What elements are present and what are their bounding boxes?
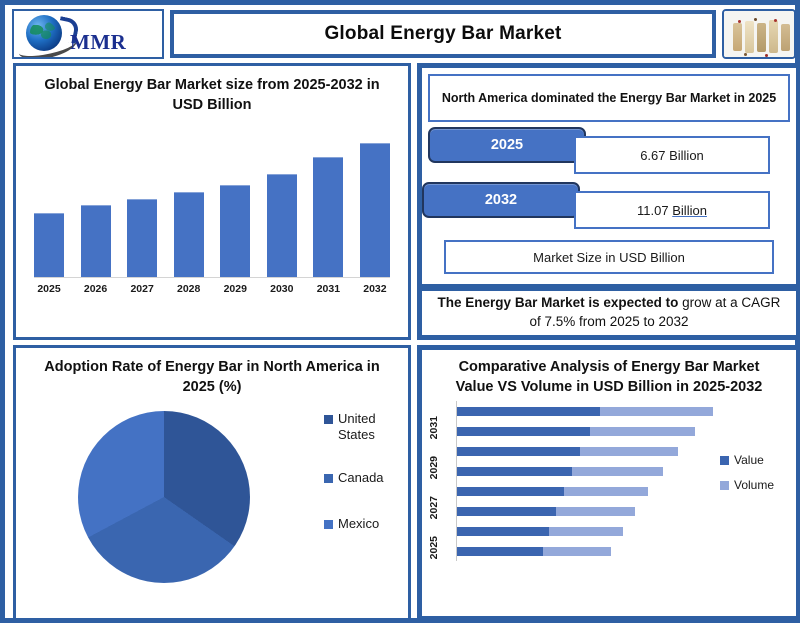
bar-segment-volume bbox=[564, 487, 649, 496]
axis-tick-label: 2027 bbox=[127, 283, 157, 295]
axis-tick-label: 2026 bbox=[81, 283, 111, 295]
legend-swatch bbox=[324, 520, 333, 529]
year-badge-2025: 2025 bbox=[428, 127, 586, 163]
bar-segment-volume bbox=[600, 407, 713, 416]
energy-bars-image bbox=[722, 9, 796, 59]
north-america-card: North America dominated the Energy Bar M… bbox=[422, 68, 796, 284]
legend-item-united-states: United States bbox=[324, 411, 412, 444]
panel-north-america: North America dominated the Energy Bar M… bbox=[417, 63, 800, 340]
cagr-statement-bold: The Energy Bar Market is expected to bbox=[438, 295, 679, 310]
pie-chart-title: Adoption Rate of Energy Bar in North Ame… bbox=[16, 348, 408, 397]
market-size-row-2025: 2025 6.67 Billion bbox=[422, 127, 796, 177]
bar-segment-value bbox=[457, 427, 590, 436]
legend-item-mexico: Mexico bbox=[324, 516, 412, 532]
legend-item-volume: Volume bbox=[720, 478, 792, 492]
compare-bar-row bbox=[457, 407, 718, 416]
axis-tick-label: 2029 bbox=[220, 283, 250, 295]
panel-value-vs-volume: Comparative Analysis of Energy Bar Marke… bbox=[417, 345, 800, 621]
market-size-unit-label: Market Size in USD Billion bbox=[444, 240, 774, 274]
compare-bar-row bbox=[457, 507, 718, 516]
compare-bar-row bbox=[457, 427, 718, 436]
column-axis-labels: 2025 2026 2027 2028 2029 2030 2031 2032 bbox=[34, 283, 390, 295]
bar-segment-value bbox=[457, 467, 572, 476]
bar-segment-volume bbox=[580, 447, 678, 456]
bar-segment-value bbox=[457, 447, 580, 456]
compare-bar-row bbox=[457, 487, 718, 496]
market-size-column-chart: 2025 2026 2027 2028 2029 2030 2031 2032 bbox=[34, 129, 390, 299]
legend-item-value: Value bbox=[720, 453, 792, 467]
axis-tick-label: 2029 bbox=[428, 456, 450, 479]
bar-segment-volume bbox=[572, 467, 663, 476]
legend-label: Volume bbox=[734, 478, 774, 492]
bar-segment-value bbox=[457, 407, 600, 416]
column-bar bbox=[313, 157, 343, 277]
axis-tick-label: 2031 bbox=[313, 283, 343, 295]
legend-label: Value bbox=[734, 453, 764, 467]
panel-adoption-pie: Adoption Rate of Energy Bar in North Ame… bbox=[13, 345, 411, 621]
bar-segment-volume bbox=[590, 427, 695, 436]
column-bar bbox=[127, 199, 157, 277]
page-title: Global Energy Bar Market bbox=[170, 10, 716, 58]
bar-segment-value bbox=[457, 547, 543, 556]
bar-segment-volume bbox=[543, 547, 611, 556]
column-bar bbox=[267, 174, 297, 277]
axis-tick-label: 2027 bbox=[428, 496, 450, 519]
value-2032: 11.07 Billion bbox=[574, 191, 770, 229]
legend-swatch bbox=[324, 415, 333, 424]
column-bar bbox=[174, 192, 204, 277]
compare-chart-title: Comparative Analysis of Energy Bar Marke… bbox=[422, 350, 796, 397]
pie-chart: United States Canada Mexico bbox=[16, 399, 408, 607]
header-bar: MMR Global Energy Bar Market bbox=[10, 5, 800, 63]
energy-bar-glyph bbox=[745, 21, 754, 53]
compare-bar-row bbox=[457, 527, 718, 536]
mmr-logo: MMR bbox=[12, 9, 164, 59]
value-2025: 6.67 Billion bbox=[574, 136, 770, 174]
year-badge-2032: 2032 bbox=[422, 182, 580, 218]
column-bar bbox=[81, 205, 111, 277]
value-2032-number: 11.07 bbox=[637, 203, 669, 218]
legend-item-canada: Canada bbox=[324, 470, 412, 486]
infographic-root: MMR Global Energy Bar Market Global Ener… bbox=[0, 0, 800, 623]
bar-segment-volume bbox=[556, 507, 635, 516]
compare-bar-row bbox=[457, 547, 718, 556]
market-size-row-2032: 2032 11.07 Billion bbox=[422, 182, 796, 232]
column-plot-area bbox=[34, 129, 390, 278]
legend-swatch bbox=[720, 481, 729, 490]
compare-plot-area bbox=[456, 401, 718, 561]
bar-segment-value bbox=[457, 487, 564, 496]
legend-swatch bbox=[324, 474, 333, 483]
energy-bar-glyph bbox=[781, 24, 790, 51]
bar-segment-value bbox=[457, 507, 556, 516]
market-size-chart-title: Global Energy Bar Market size from 2025-… bbox=[16, 66, 408, 115]
bar-segment-volume bbox=[549, 527, 622, 536]
compare-legend: Value Volume bbox=[720, 453, 792, 503]
energy-bar-glyph bbox=[757, 23, 766, 52]
energy-bar-glyph bbox=[769, 20, 778, 53]
axis-tick-label: 2030 bbox=[267, 283, 297, 295]
compare-bar-row bbox=[457, 447, 718, 456]
compare-bar-row bbox=[457, 467, 718, 476]
logo-text: MMR bbox=[70, 30, 126, 55]
value-vs-volume-card: Comparative Analysis of Energy Bar Marke… bbox=[422, 350, 796, 616]
column-bar bbox=[220, 185, 250, 277]
pie-legend: United States Canada Mexico bbox=[324, 411, 412, 558]
bar-segment-value bbox=[457, 527, 549, 536]
energy-bar-glyph bbox=[733, 23, 742, 51]
legend-label: Mexico bbox=[338, 516, 379, 532]
compare-chart-body: 2025 2027 2029 2031 Value Volume bbox=[422, 401, 796, 571]
legend-label: Canada bbox=[338, 470, 384, 486]
axis-tick-label: 2028 bbox=[174, 283, 204, 295]
axis-tick-label: 2025 bbox=[428, 536, 450, 559]
cagr-statement: The Energy Bar Market is expected to gro… bbox=[422, 291, 796, 335]
legend-label: United States bbox=[338, 411, 412, 444]
north-america-headline: North America dominated the Energy Bar M… bbox=[428, 74, 790, 122]
axis-tick-label: 2025 bbox=[34, 283, 64, 295]
compare-axis-labels: 2025 2027 2029 2031 bbox=[428, 401, 452, 561]
panel-market-size: Global Energy Bar Market size from 2025-… bbox=[13, 63, 411, 340]
pie-shape bbox=[78, 411, 250, 583]
axis-tick-label: 2031 bbox=[428, 416, 450, 439]
column-bar bbox=[360, 143, 390, 277]
column-bar bbox=[34, 213, 64, 277]
legend-swatch bbox=[720, 456, 729, 465]
value-2032-unit: Billion bbox=[672, 203, 707, 218]
page-title-text: Global Energy Bar Market bbox=[324, 23, 561, 45]
axis-tick-label: 2032 bbox=[360, 283, 390, 295]
